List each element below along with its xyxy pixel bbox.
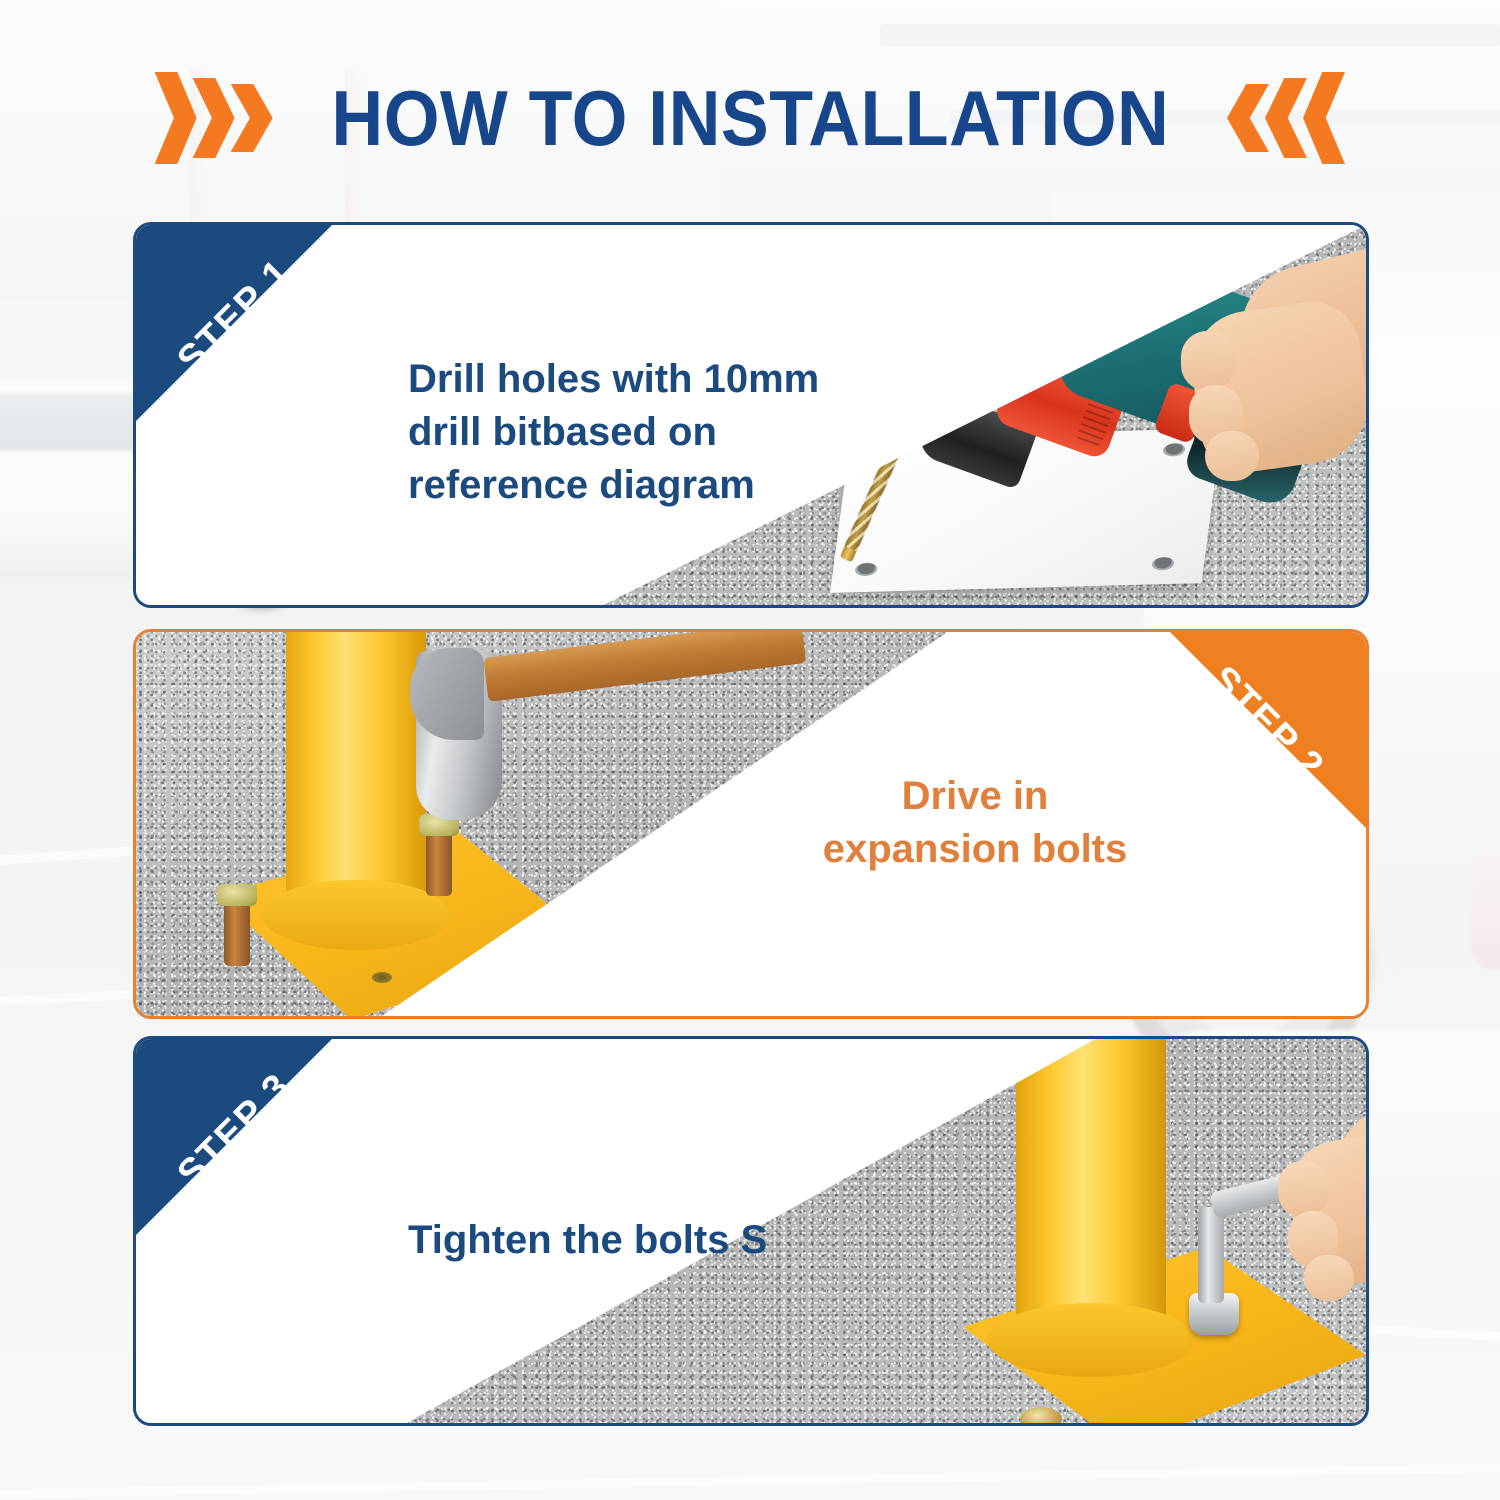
plate-hole: [372, 972, 392, 983]
finger: [1278, 1161, 1328, 1217]
hand-holding-wrench: [1276, 1087, 1366, 1317]
finger: [1205, 431, 1259, 481]
chevron-icon: [231, 84, 273, 152]
page-title: HOW TO INSTALLATION: [331, 73, 1169, 164]
yellow-bollard-post: [286, 632, 426, 924]
step-1-description: Drill holes with 10mm drill bitbased on …: [408, 353, 878, 511]
step-2-badge: STEP 2: [1170, 632, 1366, 828]
step-1-line-2: drill bitbased on: [408, 406, 878, 459]
step-2-description: Drive in expansion bolts: [760, 770, 1190, 876]
chevron-left-triple-icon: [1231, 72, 1345, 164]
plate-hole: [1151, 557, 1175, 571]
step-2-line-2: expansion bolts: [760, 823, 1190, 876]
hex-wrench-icon: [1198, 1207, 1224, 1303]
step-card-2: Drive in expansion bolts STEP 2: [133, 629, 1369, 1019]
step-card-1: Drill holes with 10mm drill bitbased on …: [133, 222, 1369, 608]
yellow-bollard-post: [1016, 1039, 1166, 1349]
header: HOW TO INSTALLATION: [0, 58, 1500, 178]
chevron-icon: [1227, 84, 1269, 152]
step-3-line-1: Tighten the bolts S: [408, 1214, 928, 1267]
step-3-description: Tighten the bolts S: [408, 1214, 928, 1267]
chevron-icon: [193, 78, 235, 158]
step-1-line-3: reference diagram: [408, 459, 878, 512]
hammer-claw: [410, 648, 484, 740]
plate-hole: [854, 563, 878, 577]
finger: [1304, 1255, 1354, 1301]
chevron-right-triple-icon: [155, 72, 269, 164]
expansion-bolt: [224, 900, 250, 966]
finger: [1181, 331, 1235, 391]
hammer-handle: [483, 632, 806, 702]
step-2-line-1: Drive in: [760, 770, 1190, 823]
step-3-badge: STEP 3: [136, 1039, 332, 1235]
step-1-badge: STEP 1: [136, 225, 332, 421]
bolt-head: [217, 884, 257, 906]
infographic-page: HOW TO INSTALLATION: [0, 0, 1500, 1500]
step-1-line-1: Drill holes with 10mm: [408, 353, 878, 406]
chevron-icon: [1265, 78, 1307, 158]
step-card-3: Tighten the bolts S STEP 3: [133, 1036, 1369, 1426]
chevron-icon: [1303, 72, 1345, 164]
chevron-icon: [155, 72, 197, 164]
